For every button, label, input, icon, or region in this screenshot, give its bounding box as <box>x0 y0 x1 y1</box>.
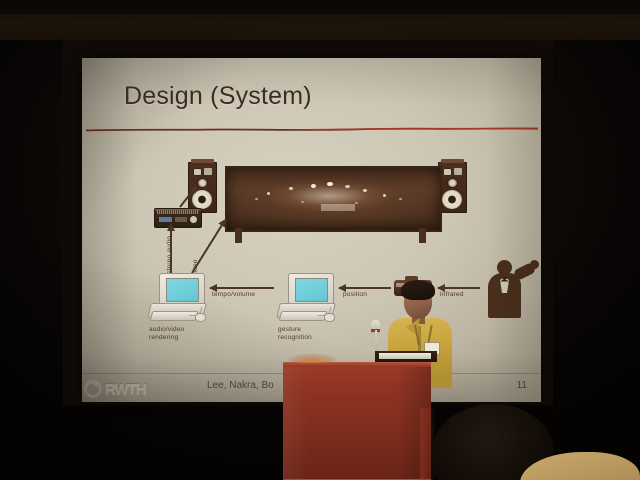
speaker-label-plate <box>454 168 462 175</box>
label-pc-rendering: audio/video rendering <box>149 326 184 342</box>
orchestra-video-image <box>225 166 442 232</box>
label-position: position <box>343 291 367 298</box>
speaker-cabinet-top <box>191 159 214 163</box>
rwth-logo: RWTH <box>84 380 146 398</box>
monitor-screen <box>166 278 199 302</box>
ceiling-strip <box>0 0 640 14</box>
speaker-tweeter <box>443 168 452 176</box>
conductor-silhouette-icon <box>480 260 536 318</box>
speaker-woofer <box>442 190 462 209</box>
speaker-label-plate <box>204 168 212 175</box>
arrow-position <box>339 287 391 289</box>
arrow-tempo-volume <box>210 287 274 289</box>
label-tempo-volume: tempo/volume <box>212 291 255 298</box>
monitor-screen <box>295 278 328 302</box>
podium <box>283 362 431 480</box>
video-wall-leg-right <box>419 228 426 243</box>
video-wall-leg-left <box>235 228 242 243</box>
slide-page-number: 11 <box>517 380 527 391</box>
pc-rendering-icon <box>149 273 205 325</box>
conductor-hand <box>530 260 539 269</box>
speaker-right-icon <box>438 162 467 213</box>
podium-lamp-glow <box>289 354 335 363</box>
speaker-midrange <box>447 178 458 188</box>
mouse <box>195 313 206 322</box>
rwth-logo-mark <box>84 380 102 398</box>
amplifier-vent <box>157 210 199 214</box>
speaker-cabinet-top <box>441 159 464 163</box>
presentation-photo: Design (System) <box>0 0 640 480</box>
video-wall-icon <box>225 166 442 232</box>
amplifier-panel <box>175 217 187 222</box>
projection-screen: Design (System) <box>82 58 541 402</box>
footer-authors: Lee, Nakra, Bo <box>207 380 274 391</box>
slide-title: Design (System) <box>124 82 312 111</box>
amplifier-display <box>159 217 172 222</box>
label-stereo-audio: stereo audio <box>166 236 173 274</box>
mouse <box>324 313 335 322</box>
amplifier-icon <box>154 208 202 228</box>
presenter-hair <box>401 280 435 300</box>
orchestra-stage-light <box>321 204 355 211</box>
pc-gesture-icon <box>278 273 334 325</box>
label-pc-gesture: gesture recognition <box>278 326 312 342</box>
speaker-tweeter <box>193 168 202 176</box>
podium-notes <box>379 353 431 359</box>
amplifier-knob <box>190 216 197 223</box>
title-underline-rule <box>86 126 538 133</box>
rwth-logo-text: RWTH <box>105 381 146 398</box>
